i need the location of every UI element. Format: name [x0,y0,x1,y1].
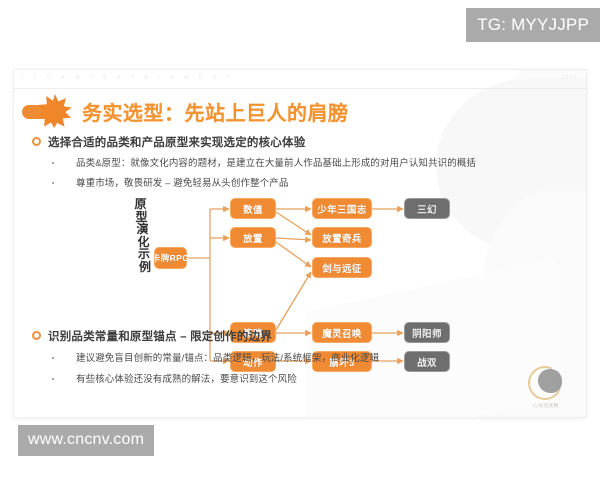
screenshot-root: I L O E N T E R T A I N M E N T 2021 务实选… [0,0,600,480]
company-logo: 心光流淌网 [520,365,572,409]
bullet-sub-2-1: 建议避免盲目创新的常量/锚点：品类逻辑，玩法/系统框架，商业化逻辑 [52,350,379,364]
site-watermark: www.cncnv.com [18,425,154,456]
side-label-char: 演 [135,223,150,236]
bullet-heading-2: 识别品类常量和原型锚点 – 限定创作的边界 [32,328,272,344]
bullet-dot-icon [52,357,54,359]
node-result-2: 战双 [404,351,450,372]
bullet-ring-icon [32,331,41,340]
node-title-1: 放置奇兵 [312,227,372,248]
node-title-2: 剑与远征 [312,257,372,278]
side-label-char: 例 [139,261,150,274]
node-root: 卡牌RPG [154,247,187,269]
logo-mark [538,369,562,393]
bullet-sub-text: 建议避免盲目创新的常量/锚点：品类逻辑，玩法/系统框架，商业化逻辑 [76,350,379,364]
node-genre-1: 放置 [230,227,276,248]
bullet-sub-2-2: 有些核心体验还没有成熟的解法，要意识到这个风险 [52,371,297,385]
side-label-char: 原 [131,198,150,211]
node-result-1: 阴阳师 [404,322,450,343]
bullet-dot-icon [52,378,54,380]
logo-caption: 心光流淌网 [522,403,570,409]
node-result-0: 三幻 [404,198,450,219]
node-title-3: 魔灵召唤 [312,322,372,343]
telegram-watermark: TG: MYYJJPP [466,8,600,42]
node-title-0: 少年三国志 [312,198,372,219]
bullet-heading-text: 识别品类常量和原型锚点 – 限定创作的边界 [48,328,272,344]
prototype-evolution-diagram: 原 型 演 化 示 例 卡牌RPG 数值 放置 策略 动作 少年三国志 放置奇兵… [14,70,586,417]
diagram-side-label: 原 型 演 化 示 例 [134,198,150,274]
node-genre-0: 数值 [230,198,276,219]
diagram-connectors [14,70,586,417]
bullet-sub-text: 有些核心体验还没有成熟的解法，要意识到这个风险 [76,371,297,385]
slide-canvas: I L O E N T E R T A I N M E N T 2021 务实选… [14,70,586,417]
